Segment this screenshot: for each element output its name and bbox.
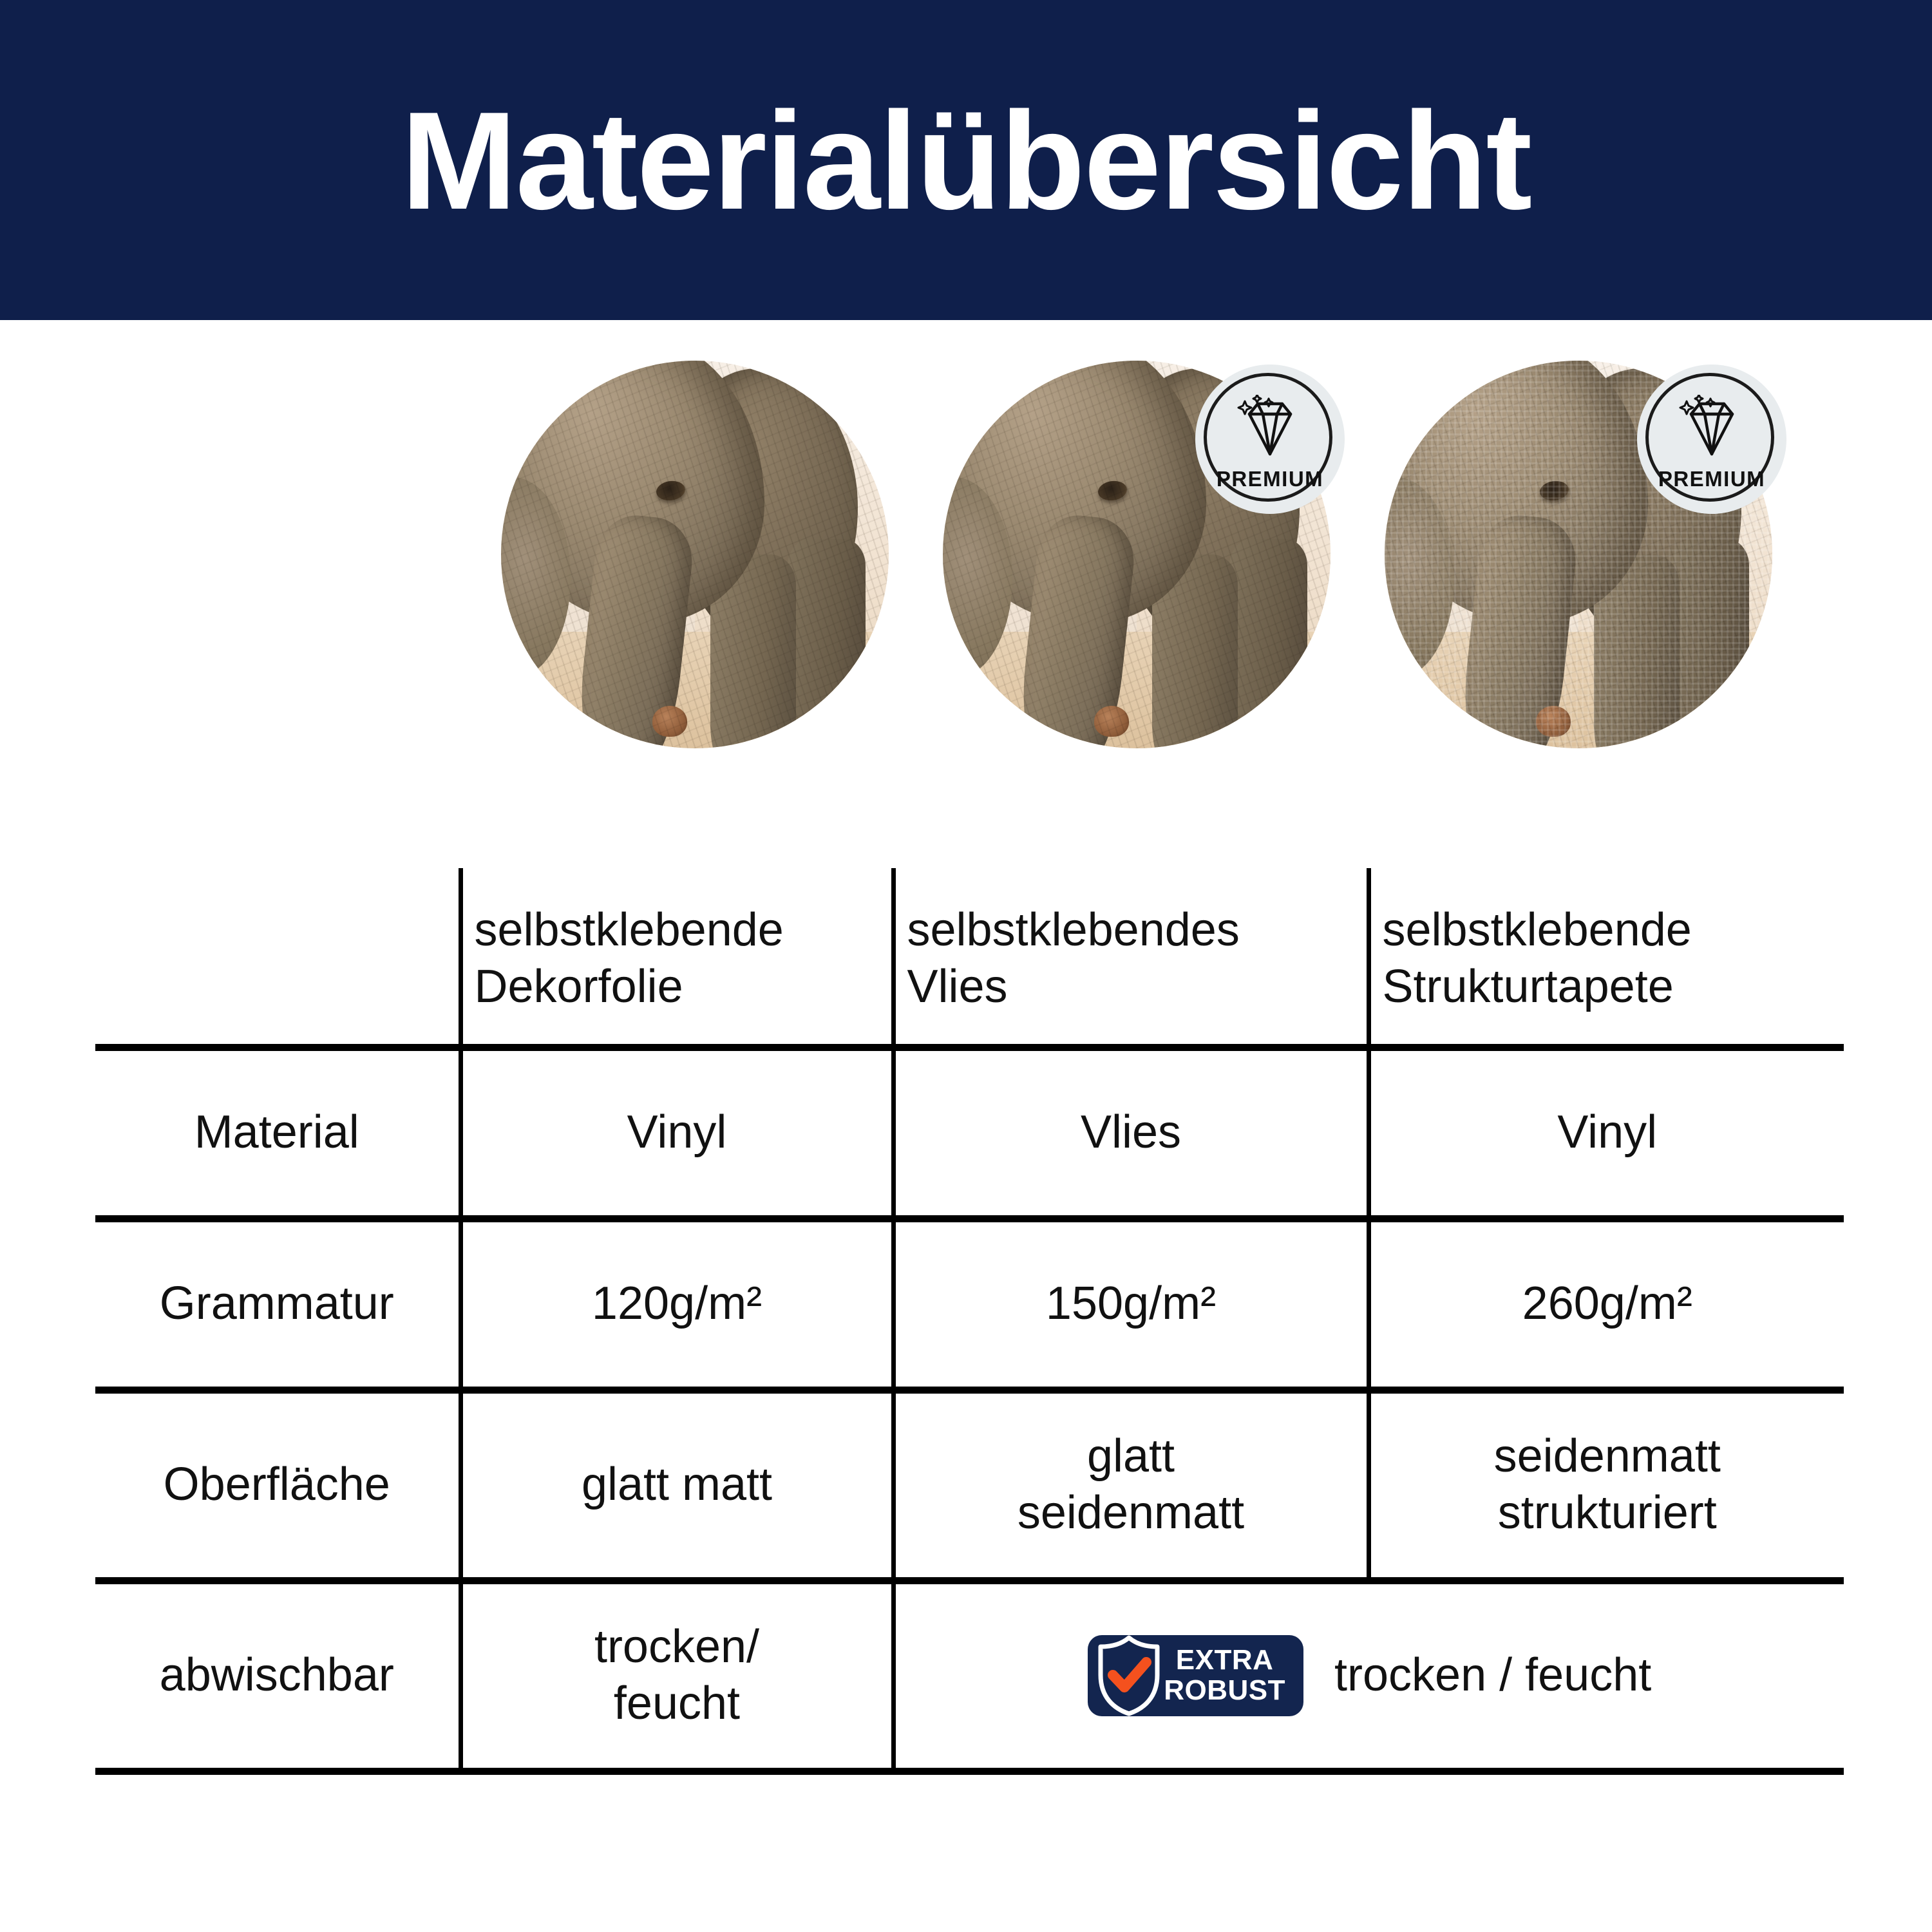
cell-material-dekorfolie: Vinyl: [460, 1047, 893, 1218]
extra-robust-text: EXTRA ROBUST: [1164, 1645, 1285, 1705]
table-row: abwischbar trocken/ feucht: [95, 1580, 1844, 1771]
cell-grammatur-vlies: 150g/m²: [893, 1218, 1368, 1390]
product-preview-dekorfolie[interactable]: [501, 361, 889, 748]
robust-line-2: ROBUST: [1164, 1676, 1285, 1706]
header-banner: Materialübersicht: [0, 0, 1932, 320]
table-header-vlies: selbstklebendes Vlies: [893, 868, 1368, 1047]
diamond-icon: [1231, 387, 1309, 462]
header-line-2: Vlies: [907, 959, 1355, 1016]
row-label-grammatur: Grammatur: [95, 1218, 460, 1390]
product-preview-strukturtapete[interactable]: PREMIUM: [1385, 361, 1772, 748]
header-line-1: selbstklebendes: [907, 902, 1355, 959]
table-row: Oberfläche glatt matt glatt seidenmatt s…: [95, 1390, 1844, 1580]
row-label-oberflaeche: Oberfläche: [95, 1390, 460, 1580]
elephant-photo-circle: [501, 361, 889, 748]
product-preview-row: PREMIUM: [0, 361, 1932, 773]
elephant-image: [501, 361, 889, 748]
cell-oberflaeche-strukturtapete: seidenmatt strukturiert: [1368, 1390, 1844, 1580]
cell-grammatur-strukturtapete: 260g/m²: [1368, 1218, 1844, 1390]
header-line-2: Dekorfolie: [475, 959, 880, 1016]
header-line-2: Strukturtapete: [1383, 959, 1833, 1016]
extra-robust-badge: EXTRA ROBUST: [1088, 1635, 1303, 1716]
table-header-strukturtapete: selbstklebende Strukturtapete: [1368, 868, 1844, 1047]
robust-line-1: EXTRA: [1164, 1645, 1285, 1676]
table-row: Grammatur 120g/m² 150g/m² 260g/m²: [95, 1218, 1844, 1390]
material-spec-table: selbstklebende Dekorfolie selbstklebende…: [95, 868, 1844, 1775]
page-title: Materialübersicht: [401, 91, 1531, 230]
cell-oberflaeche-vlies: glatt seidenmatt: [893, 1390, 1368, 1580]
table-header-row: selbstklebende Dekorfolie selbstklebende…: [95, 868, 1844, 1047]
table-header-dekorfolie: selbstklebende Dekorfolie: [460, 868, 893, 1047]
cell-material-vlies: Vlies: [893, 1047, 1368, 1218]
shield-check-icon: [1095, 1635, 1162, 1716]
row-label-material: Material: [95, 1047, 460, 1218]
premium-badge-label: PREMIUM: [1658, 467, 1765, 491]
cell-abwischbar-dekorfolie: trocken/ feucht: [460, 1580, 893, 1771]
material-spec-table-wrapper: selbstklebende Dekorfolie selbstklebende…: [95, 868, 1844, 1775]
premium-badge: PREMIUM: [1195, 365, 1345, 514]
cell-abwischbar-merged: EXTRA ROBUST trocken / feucht: [893, 1580, 1844, 1771]
premium-badge-label: PREMIUM: [1217, 467, 1323, 491]
cell-grammatur-dekorfolie: 120g/m²: [460, 1218, 893, 1390]
cell-abwischbar-merged-value: trocken / feucht: [1334, 1647, 1651, 1704]
row-label-abwischbar: abwischbar: [95, 1580, 460, 1771]
header-line-1: selbstklebende: [475, 902, 880, 959]
skin-texture: [501, 361, 889, 748]
value-line-2: strukturiert: [1383, 1485, 1833, 1542]
premium-badge: PREMIUM: [1637, 365, 1786, 514]
header-line-1: selbstklebende: [1383, 902, 1833, 959]
cell-material-strukturtapete: Vinyl: [1368, 1047, 1844, 1218]
table-row: Material Vinyl Vlies Vinyl: [95, 1047, 1844, 1218]
table-header-empty: [95, 868, 460, 1047]
value-line-1: trocken/: [475, 1619, 880, 1676]
value-line-2: seidenmatt: [907, 1485, 1355, 1542]
value-line-2: feucht: [475, 1676, 880, 1732]
value-line-1: seidenmatt: [1383, 1428, 1833, 1485]
cell-oberflaeche-dekorfolie: glatt matt: [460, 1390, 893, 1580]
diamond-icon: [1673, 387, 1750, 462]
product-preview-vlies[interactable]: PREMIUM: [943, 361, 1331, 748]
value-line-1: glatt: [907, 1428, 1355, 1485]
value-line-1: glatt matt: [475, 1457, 880, 1513]
